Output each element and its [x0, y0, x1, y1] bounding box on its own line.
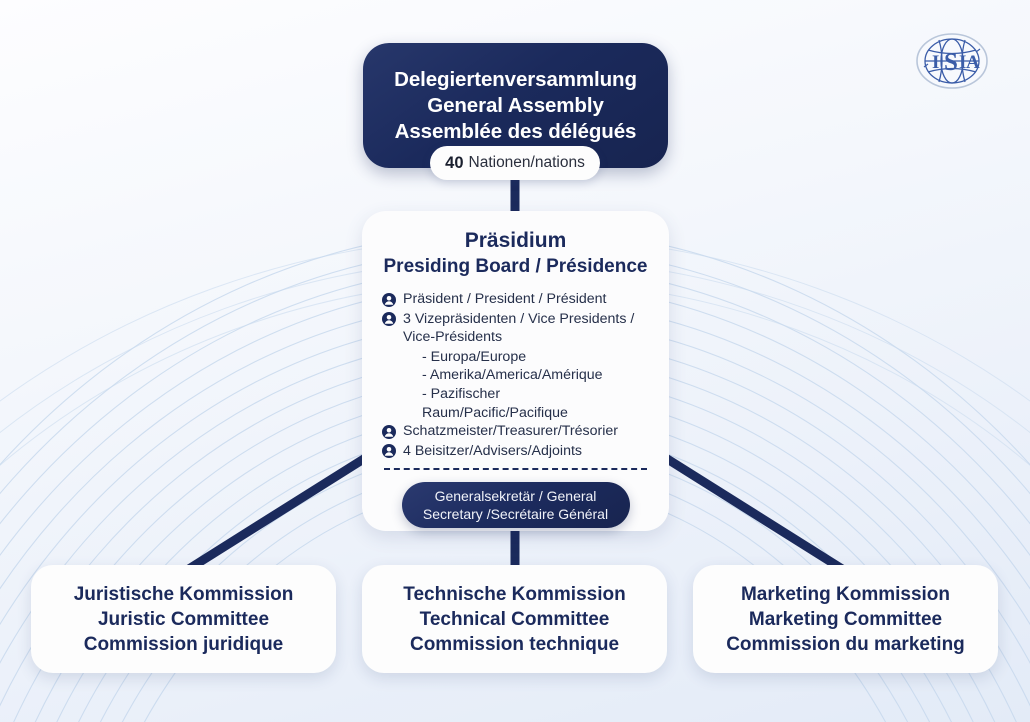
technical-line-en: Technical Committee [420, 607, 610, 632]
connector-board-juristic [184, 455, 370, 572]
isia-globe-logo: I S I A [914, 31, 990, 91]
board-member-row: 4 Beisitzer/Advisers/Adjoints [382, 442, 649, 461]
marketing-line-fr: Commission du marketing [726, 632, 965, 657]
marketing-line-en: Marketing Committee [749, 607, 942, 632]
person-icon [382, 293, 396, 307]
secretary-line-2: Secretary /Secrétaire Général [423, 505, 608, 523]
svg-text:S: S [944, 49, 958, 76]
board-region-pacific: - Pazifischer Raum/Pacific/Pacifique [382, 385, 649, 422]
org-chart-canvas: I S I A Delegiertenversammlung General A… [0, 0, 1030, 722]
board-member-row: Präsident / President / Président [382, 290, 649, 309]
technical-line-de: Technische Kommission [403, 582, 625, 607]
person-icon [382, 425, 396, 439]
board-title-de: Präsidium [382, 228, 649, 254]
assembly-line-fr: Assemblée des délégués [395, 119, 637, 145]
board-region-europe: - Europa/Europe [382, 348, 649, 367]
technical-line-fr: Commission technique [410, 632, 619, 657]
person-icon [382, 312, 396, 326]
board-member-label: 3 Vizepräsidenten / Vice Presidents / Vi… [403, 310, 649, 347]
presiding-board-node[interactable]: Präsidium Presiding Board / Présidence P… [362, 211, 669, 531]
marketing-line-de: Marketing Kommission [741, 582, 950, 607]
board-region-america: - Amerika/America/Amérique [382, 366, 649, 385]
board-title: Präsidium Presiding Board / Présidence [382, 228, 649, 279]
board-member-label: Schatzmeister/Treasurer/Trésorier [403, 422, 649, 441]
assembly-line-en: General Assembly [427, 93, 604, 119]
assembly-line-de: Delegiertenversammlung [394, 67, 637, 93]
board-member-row: Schatzmeister/Treasurer/Trésorier [382, 422, 649, 441]
nations-count: 40 [445, 154, 463, 173]
connector-board-marketing [661, 455, 847, 572]
secretary-line-1: Generalsekretär / General [435, 487, 597, 505]
board-divider [384, 468, 647, 470]
board-member-list: Präsident / President / Président 3 Vize… [382, 290, 649, 460]
person-icon [382, 444, 396, 458]
board-title-en-fr: Presiding Board / Présidence [382, 254, 649, 279]
board-member-row: 3 Vizepräsidenten / Vice Presidents / Vi… [382, 310, 649, 347]
nations-label: Nationen/nations [469, 154, 585, 172]
juristic-line-de: Juristische Kommission [74, 582, 294, 607]
board-member-label: Präsident / President / Président [403, 290, 649, 309]
general-secretary-node[interactable]: Generalsekretär / General Secretary /Sec… [402, 482, 630, 528]
juristic-line-fr: Commission juridique [84, 632, 284, 657]
nations-badge: 40 Nationen/nations [430, 146, 600, 180]
technical-committee-node[interactable]: Technische Kommission Technical Committe… [362, 565, 667, 673]
svg-text:A: A [966, 52, 980, 73]
marketing-committee-node[interactable]: Marketing Kommission Marketing Committee… [693, 565, 998, 673]
board-member-label: 4 Beisitzer/Advisers/Adjoints [403, 442, 649, 461]
juristic-committee-node[interactable]: Juristische Kommission Juristic Committe… [31, 565, 336, 673]
svg-text:I: I [932, 52, 939, 73]
juristic-line-en: Juristic Committee [98, 607, 269, 632]
